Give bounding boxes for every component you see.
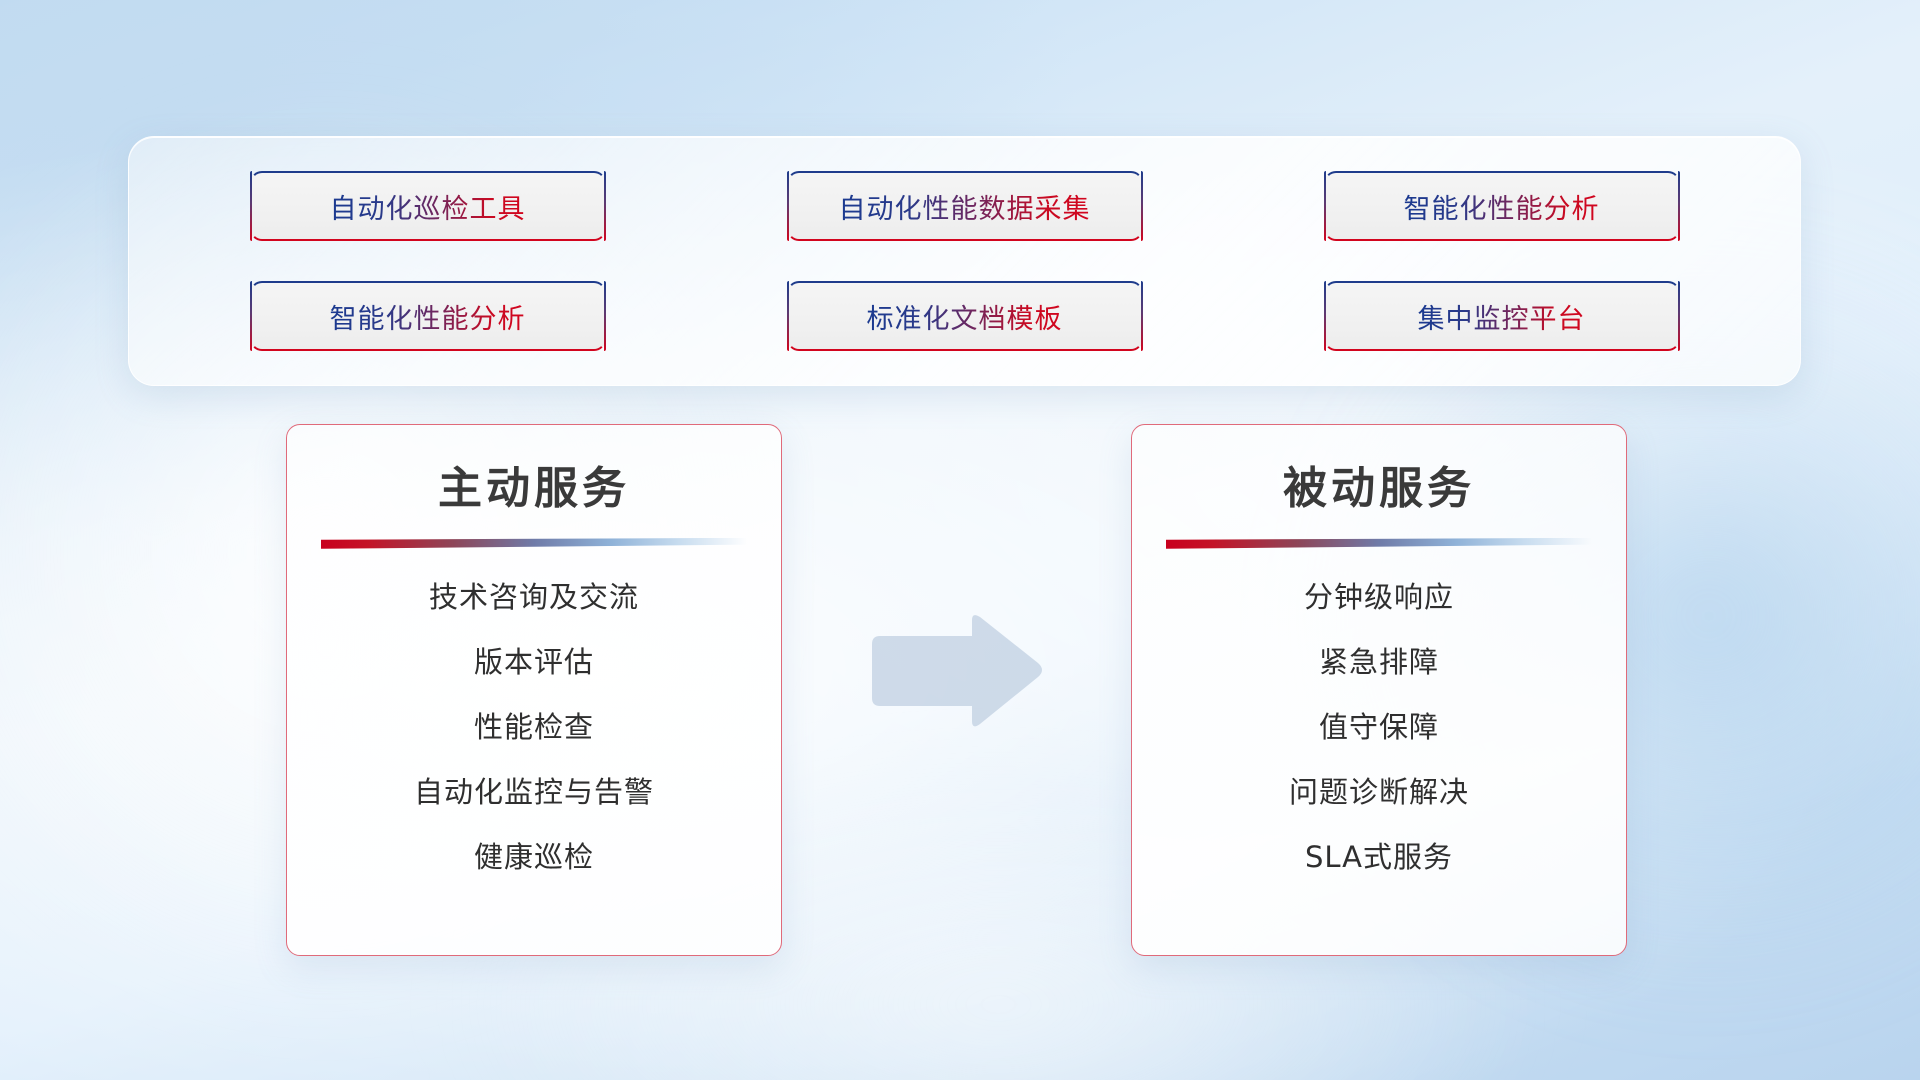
list-item: 值守保障 (1166, 713, 1592, 742)
list-item: 分钟级响应 (1166, 583, 1592, 612)
capability-tag-automated-inspection-tool[interactable]: 自动化巡检工具 (250, 171, 606, 241)
list-item: 紧急排障 (1166, 648, 1592, 677)
list-item: 技术咨询及交流 (321, 583, 747, 612)
list-item: 性能检查 (321, 713, 747, 742)
capability-tag-intelligent-performance-analysis-1[interactable]: 智能化性能分析 (1324, 171, 1680, 241)
list-item: 自动化监控与告警 (321, 778, 747, 807)
capability-tag-label: 智能化性能分析 (1404, 187, 1600, 226)
list-item: SLA式服务 (1166, 843, 1592, 872)
list-item: 健康巡检 (321, 843, 747, 872)
capability-tag-label: 自动化性能数据采集 (839, 187, 1091, 226)
service-list-reactive: 分钟级响应 紧急排障 值守保障 问题诊断解决 SLA式服务 (1166, 583, 1592, 931)
service-card-reactive: 被动服务 分钟级响应 紧急排障 值守保障 问题诊断解决 SLA式服务 (1131, 424, 1627, 956)
card-divider-bar (321, 538, 747, 549)
service-list-proactive: 技术咨询及交流 版本评估 性能检查 自动化监控与告警 健康巡检 (321, 583, 747, 931)
card-title-reactive: 被动服务 (1283, 463, 1475, 516)
list-item: 问题诊断解决 (1166, 778, 1592, 807)
card-divider (1166, 538, 1592, 549)
capability-tag-centralized-monitoring-platform[interactable]: 集中监控平台 (1324, 281, 1680, 351)
service-card-proactive: 主动服务 技术咨询及交流 版本评估 性能检查 自动化监控与告警 健康巡检 (286, 424, 782, 956)
card-divider (321, 538, 747, 549)
capability-tag-standardized-document-template[interactable]: 标准化文档模板 (787, 281, 1143, 351)
capability-tag-label: 智能化性能分析 (330, 297, 526, 336)
capability-panel: 自动化巡检工具 自动化性能数据采集 智能化性能分析 智能化性能分析 标准化文档模… (128, 136, 1801, 386)
capability-tag-label: 自动化巡检工具 (330, 187, 526, 226)
card-divider-bar (1166, 538, 1592, 549)
flow-arrow-right-icon (868, 612, 1046, 730)
card-title-proactive: 主动服务 (438, 463, 630, 516)
capability-tag-intelligent-performance-analysis-2[interactable]: 智能化性能分析 (250, 281, 606, 351)
list-item: 版本评估 (321, 648, 747, 677)
capability-tag-automated-performance-data-collection[interactable]: 自动化性能数据采集 (787, 171, 1143, 241)
capability-tag-label: 标准化文档模板 (867, 297, 1063, 336)
capability-tag-label: 集中监控平台 (1418, 297, 1586, 336)
